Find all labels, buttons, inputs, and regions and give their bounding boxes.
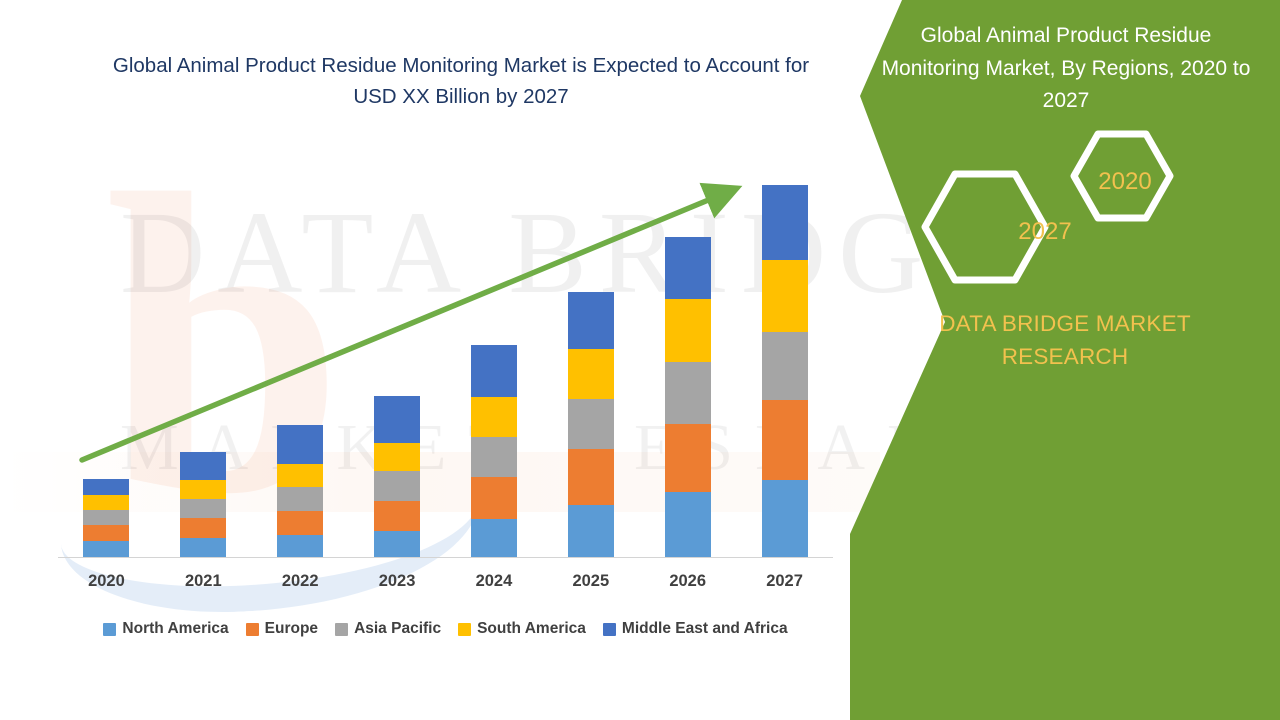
x-axis-tick-2024: 2024 xyxy=(471,572,517,591)
legend-item-middle-east-and-africa[interactable]: Middle East and Africa xyxy=(603,620,788,638)
bar-segment xyxy=(471,519,517,557)
legend-swatch-icon xyxy=(458,623,471,636)
bar-column xyxy=(374,396,420,557)
bar-segment xyxy=(83,541,129,557)
bar-column xyxy=(471,345,517,557)
bar-segment xyxy=(568,449,614,505)
bar-segment xyxy=(471,437,517,477)
x-axis-tick-2023: 2023 xyxy=(374,572,420,591)
legend-item-south-america[interactable]: South America xyxy=(458,620,586,638)
bar-segment xyxy=(374,396,420,443)
legend-item-north-america[interactable]: North America xyxy=(103,620,228,638)
bar-segment xyxy=(277,464,323,487)
bar-segment xyxy=(180,518,226,538)
brand-name-text: DATA BRIDGE MARKET RESEARCH xyxy=(885,308,1245,373)
bar-segment xyxy=(665,299,711,362)
x-axis-tick-2025: 2025 xyxy=(568,572,614,591)
bar-segment xyxy=(374,531,420,557)
x-axis-tick-2021: 2021 xyxy=(180,572,226,591)
bar-segment xyxy=(277,511,323,535)
x-axis-tick-2027: 2027 xyxy=(762,572,808,591)
legend-label: Middle East and Africa xyxy=(622,620,788,638)
x-axis-tick-labels: 20202021202220232024202520262027 xyxy=(58,566,833,596)
bar-segment xyxy=(180,538,226,557)
chart-legend: North AmericaEuropeAsia PacificSouth Ame… xyxy=(58,615,833,643)
bar-chart-plot-area xyxy=(58,140,833,557)
legend-label: South America xyxy=(477,620,586,638)
bar-segment xyxy=(180,452,226,480)
bar-segment xyxy=(277,487,323,511)
bar-segment xyxy=(374,443,420,471)
bar-segment xyxy=(568,292,614,349)
legend-item-asia-pacific[interactable]: Asia Pacific xyxy=(335,620,441,638)
legend-swatch-icon xyxy=(103,623,116,636)
legend-swatch-icon xyxy=(335,623,348,636)
x-axis-tick-2020: 2020 xyxy=(83,572,129,591)
bar-column xyxy=(180,452,226,557)
bar-segment xyxy=(277,535,323,557)
bar-segment xyxy=(665,237,711,299)
bar-segment xyxy=(83,495,129,510)
hexagon-label-2027: 2027 xyxy=(990,218,1100,246)
bar-column xyxy=(762,185,808,557)
right-panel-title: Global Animal Product Residue Monitoring… xyxy=(880,20,1252,118)
right-green-panel: Global Animal Product Residue Monitoring… xyxy=(850,0,1280,720)
bar-segment xyxy=(471,477,517,519)
legend-label: Asia Pacific xyxy=(354,620,441,638)
bar-column xyxy=(277,425,323,557)
legend-swatch-icon xyxy=(246,623,259,636)
bar-segment xyxy=(762,185,808,260)
bar-segment xyxy=(762,480,808,557)
bar-segment xyxy=(568,349,614,399)
hexagon-group: 2020 2027 xyxy=(850,130,1280,305)
chart-title: Global Animal Product Residue Monitoring… xyxy=(108,50,814,112)
bar-segment xyxy=(665,362,711,424)
bar-segment xyxy=(762,332,808,400)
bar-column xyxy=(568,292,614,557)
bar-segment xyxy=(471,345,517,397)
legend-label: Europe xyxy=(265,620,318,638)
bar-segment xyxy=(83,525,129,541)
bar-segment xyxy=(83,510,129,525)
bar-column xyxy=(665,237,711,557)
x-axis-tick-2022: 2022 xyxy=(277,572,323,591)
bar-segment xyxy=(180,499,226,518)
bar-segment xyxy=(277,425,323,464)
bar-segment xyxy=(665,492,711,557)
bar-segment xyxy=(471,397,517,437)
bar-segment xyxy=(665,424,711,492)
bar-segment xyxy=(568,399,614,449)
bar-segment xyxy=(762,260,808,332)
bar-column xyxy=(83,479,129,557)
x-axis-line xyxy=(58,557,833,558)
bar-segment xyxy=(374,501,420,531)
slide-root: b DATA BRIDGE MARKET RESEARCH Global Ani… xyxy=(0,0,1280,720)
legend-item-europe[interactable]: Europe xyxy=(246,620,318,638)
legend-label: North America xyxy=(122,620,228,638)
bar-segment xyxy=(180,480,226,499)
legend-swatch-icon xyxy=(603,623,616,636)
bar-segment xyxy=(762,400,808,480)
bar-segment xyxy=(374,471,420,501)
hexagon-label-2020: 2020 xyxy=(1070,168,1180,196)
bar-segment xyxy=(568,505,614,557)
x-axis-tick-2026: 2026 xyxy=(665,572,711,591)
bar-segment xyxy=(83,479,129,495)
